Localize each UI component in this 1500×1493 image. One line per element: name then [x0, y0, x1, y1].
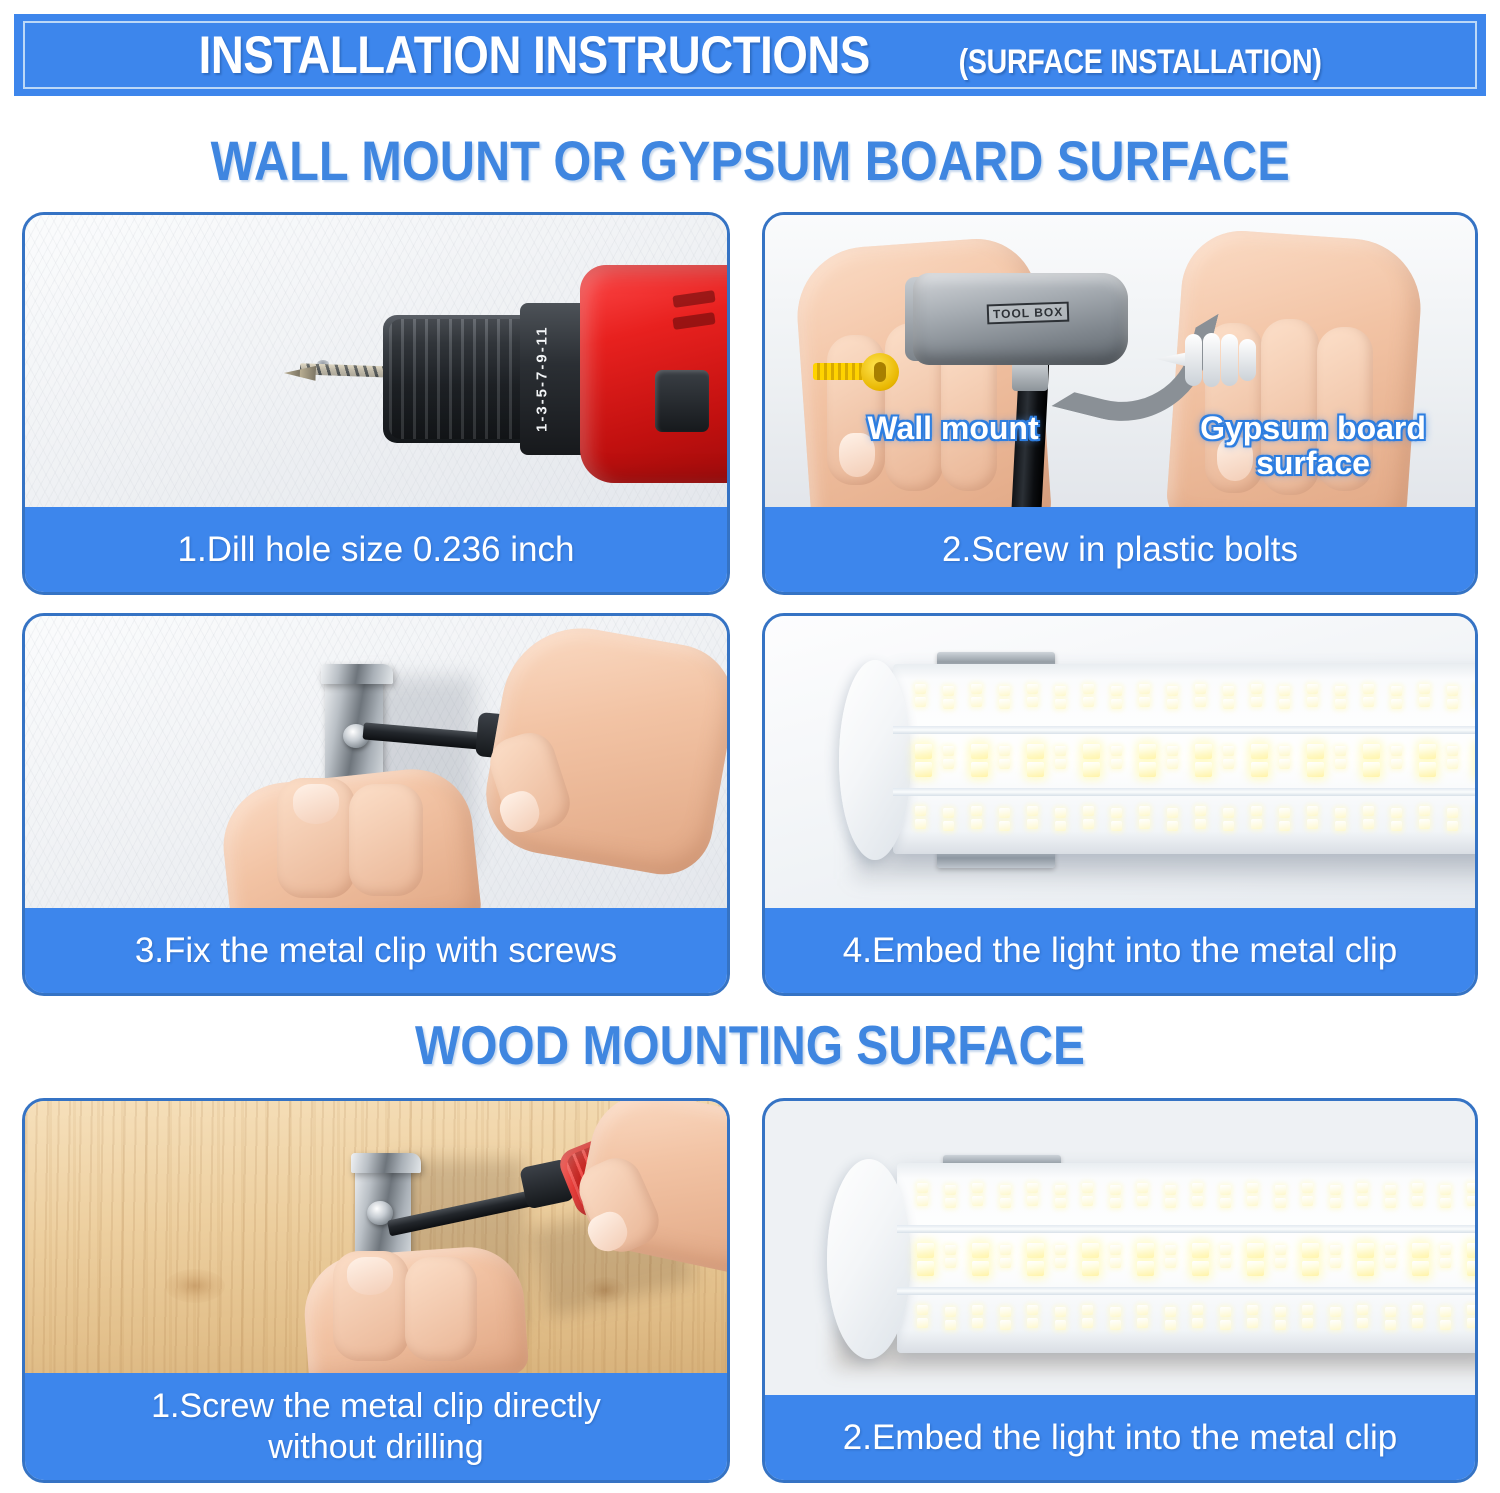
led-chip: [1137, 1318, 1148, 1328]
led-chip-pair: [915, 684, 926, 707]
led-chip-pair-small: [1385, 1307, 1396, 1330]
led-chip-pair-small: [1223, 686, 1234, 709]
led-chip: [1391, 699, 1402, 709]
led-chip: [1419, 684, 1430, 694]
led-chip-pair-small: [1110, 1307, 1121, 1330]
led-chip: [1111, 699, 1122, 709]
page-title: INSTALLATION INSTRUCTIONS: [198, 25, 869, 86]
led-chip-pair: [1192, 1243, 1209, 1276]
led-chip: [1419, 819, 1430, 829]
led-chip: [915, 819, 926, 829]
led-chip-pair-small: [1279, 686, 1290, 709]
led-chip-pair-small: [1330, 1307, 1341, 1330]
led-chip-pair-small: [1330, 1185, 1341, 1208]
led-chip: [943, 746, 954, 756]
led-chip: [1357, 1243, 1374, 1258]
led-chip: [1220, 1198, 1231, 1208]
led-chip-pair-small: [1223, 808, 1234, 831]
led-chip: [1251, 762, 1268, 777]
led-chip: [1247, 1183, 1258, 1193]
led-chip: [1055, 699, 1066, 709]
led-chip: [1167, 686, 1178, 696]
led-chip-pair: [1192, 1183, 1203, 1206]
yellow-wall-anchor-icon: [813, 353, 899, 389]
led-chip-pair-small: [1165, 1185, 1176, 1208]
led-chip: [1251, 684, 1262, 694]
led-chip: [1447, 746, 1458, 756]
led-chip: [1139, 684, 1150, 694]
led-chip: [1307, 697, 1318, 707]
led-chip: [1110, 1185, 1121, 1195]
led-chip-pair: [917, 1243, 934, 1276]
led-chip: [1055, 746, 1066, 756]
photo-fix-metal-clip: [25, 616, 727, 914]
led-chip: [1440, 1185, 1451, 1195]
led-chip-pair-small: [1335, 746, 1346, 769]
led-chip-pair-small: [1110, 1185, 1121, 1208]
anchor-fin: [1221, 334, 1238, 386]
photo-embed-light-white: [765, 616, 1475, 914]
led-chip-pair: [1412, 1183, 1423, 1206]
led-chip: [945, 1307, 956, 1317]
led-chip: [1279, 699, 1290, 709]
led-chip: [1357, 1183, 1368, 1193]
led-chip: [1139, 806, 1150, 816]
led-chip: [1302, 1318, 1313, 1328]
led-chip: [1391, 759, 1402, 769]
led-chip: [1275, 1198, 1286, 1208]
led-chip-pair-small: [1220, 1245, 1231, 1268]
led-chip: [1335, 746, 1346, 756]
led-chip: [971, 819, 982, 829]
led-chip: [1055, 1198, 1066, 1208]
led-chip-pair-small: [1220, 1185, 1231, 1208]
led-chip: [943, 686, 954, 696]
led-chip: [1447, 686, 1458, 696]
led-chip: [1192, 1243, 1209, 1258]
led-chip: [1302, 1261, 1319, 1276]
led-chip: [1302, 1305, 1313, 1315]
led-chip-pair-small: [1165, 1307, 1176, 1330]
led-chip-pair-small: [1111, 686, 1122, 709]
led-chip-pair: [1027, 684, 1038, 707]
led-chip: [1419, 762, 1436, 777]
led-chip: [1391, 821, 1402, 831]
led-rail-divider: [893, 788, 1475, 796]
led-chip: [1223, 746, 1234, 756]
fingernail: [293, 784, 339, 824]
step-panel-3: 3.Fix the metal clip with screws: [22, 613, 730, 996]
led-chip: [1391, 808, 1402, 818]
led-chip-pair: [1247, 1243, 1264, 1276]
led-chip-pair-small: [1440, 1307, 1451, 1330]
led-chip: [1363, 684, 1374, 694]
led-rail-divider: [897, 1225, 1475, 1233]
led-chip-pair: [1467, 1183, 1475, 1206]
step-caption-3: 3.Fix the metal clip with screws: [25, 908, 727, 993]
led-chip-pair-small: [1275, 1185, 1286, 1208]
led-chip: [1195, 744, 1212, 759]
led-chip: [971, 697, 982, 707]
led-chip: [1335, 821, 1346, 831]
led-chip-pair-small: [1335, 808, 1346, 831]
led-chip-pair-small: [1165, 1245, 1176, 1268]
led-chip-pair-small: [1000, 1245, 1011, 1268]
led-chip: [1440, 1320, 1451, 1330]
led-chip: [1307, 762, 1324, 777]
led-chip: [1083, 806, 1094, 816]
led-chip-pair: [1302, 1243, 1319, 1276]
led-chip-pair-small: [1385, 1245, 1396, 1268]
led-chip-pair: [1195, 684, 1206, 707]
led-chip: [1000, 1320, 1011, 1330]
section-heading-wood-mount: WOOD MOUNTING SURFACE: [0, 1013, 1500, 1077]
led-chip-pair: [1082, 1243, 1099, 1276]
led-chip: [915, 762, 932, 777]
led-chip: [943, 759, 954, 769]
anchor-head: [861, 353, 899, 391]
led-chip: [1192, 1305, 1203, 1315]
led-chip: [1467, 1261, 1475, 1276]
led-chip: [943, 821, 954, 831]
led-chip: [1275, 1258, 1286, 1268]
led-chip: [1251, 744, 1268, 759]
led-chip: [1137, 1305, 1148, 1315]
led-chip: [1412, 1305, 1423, 1315]
led-rail-divider: [897, 1287, 1475, 1295]
led-chip: [1220, 1258, 1231, 1268]
led-chip: [1447, 821, 1458, 831]
step-panel-4: 4.Embed the light into the metal clip: [762, 613, 1478, 996]
led-chip: [1247, 1318, 1258, 1328]
led-chip-pair-small: [1440, 1185, 1451, 1208]
led-chip: [1385, 1320, 1396, 1330]
led-chip: [1165, 1245, 1176, 1255]
led-chip: [972, 1243, 989, 1258]
led-chip: [1335, 759, 1346, 769]
led-chip: [1139, 744, 1156, 759]
led-chip: [1000, 1258, 1011, 1268]
led-chip: [1137, 1261, 1154, 1276]
led-chip-pair-small: [1167, 808, 1178, 831]
led-chip: [1307, 684, 1318, 694]
led-chip-pair: [917, 1305, 928, 1328]
led-chip: [1167, 821, 1178, 831]
led-chip: [1412, 1183, 1423, 1193]
led-chip: [1055, 808, 1066, 818]
led-chip: [1167, 759, 1178, 769]
led-chip: [1165, 1185, 1176, 1195]
led-chip: [945, 1320, 956, 1330]
led-chip: [1083, 762, 1100, 777]
led-chip-pair-small: [999, 808, 1010, 831]
led-chip: [1385, 1185, 1396, 1195]
led-chip: [1251, 806, 1262, 816]
led-chip: [1139, 819, 1150, 829]
led-chip: [1082, 1243, 1099, 1258]
led-chip: [1083, 819, 1094, 829]
led-chip: [1167, 808, 1178, 818]
led-chip: [1391, 686, 1402, 696]
led-chip: [972, 1305, 983, 1315]
led-chip-pair: [971, 744, 988, 777]
led-chip: [1195, 819, 1206, 829]
led-chip: [915, 744, 932, 759]
led-chip: [943, 808, 954, 818]
led-chip: [1220, 1185, 1231, 1195]
anchor-tip: [1155, 352, 1189, 367]
drill-bit-icon: [300, 363, 395, 377]
installation-instructions-infographic: INSTALLATION INSTRUCTIONS (SURFACE INSTA…: [0, 0, 1500, 1493]
led-chip: [1440, 1258, 1451, 1268]
led-chip-pair: [1302, 1183, 1313, 1206]
led-chip: [917, 1261, 934, 1276]
led-chip: [1027, 819, 1038, 829]
led-chip-pair: [1195, 806, 1206, 829]
led-chip: [1302, 1196, 1313, 1206]
led-chip: [971, 806, 982, 816]
led-chip-pair: [1357, 1305, 1368, 1328]
led-chip: [1275, 1245, 1286, 1255]
led-chip: [1027, 1318, 1038, 1328]
led-chip-pair: [1467, 1305, 1475, 1328]
photo-drill-hole: 1-3-5-7-9-11: [25, 215, 727, 513]
led-chip: [1363, 806, 1374, 816]
led-chip: [1385, 1245, 1396, 1255]
led-chip: [1110, 1198, 1121, 1208]
led-chip-pair-small: [1391, 746, 1402, 769]
led-chip: [972, 1318, 983, 1328]
led-chip: [945, 1198, 956, 1208]
step-caption-4: 4.Embed the light into the metal clip: [765, 908, 1475, 993]
led-chip: [1357, 1305, 1368, 1315]
led-chip: [1195, 806, 1206, 816]
led-chip: [1330, 1245, 1341, 1255]
step-caption-2: 2.Screw in plastic bolts: [765, 507, 1475, 592]
led-chip-pair: [1357, 1183, 1368, 1206]
led-chip: [1279, 759, 1290, 769]
led-chip: [1247, 1243, 1264, 1258]
led-chip: [1385, 1258, 1396, 1268]
led-chip: [1357, 1261, 1374, 1276]
led-chip: [1357, 1318, 1368, 1328]
led-chip-pair-small: [1447, 686, 1458, 709]
led-chip-pair-small: [999, 686, 1010, 709]
overlay-label-gypsum-board-surface: Gypsum board surface: [1183, 411, 1443, 481]
led-chip: [917, 1318, 928, 1328]
led-chip: [1330, 1258, 1341, 1268]
led-chip: [1440, 1198, 1451, 1208]
led-chip: [1192, 1196, 1203, 1206]
led-chip: [1111, 808, 1122, 818]
hammer-brand-label: TOOL BOX: [987, 302, 1070, 325]
led-chip: [1192, 1183, 1203, 1193]
page-subtitle: (SURFACE INSTALLATION): [959, 43, 1322, 82]
led-chip-pair: [1195, 744, 1212, 777]
led-chip-pair: [1419, 744, 1436, 777]
led-chip: [1467, 1243, 1475, 1258]
wood-knot: [165, 1269, 225, 1303]
led-chip-pair: [1192, 1305, 1203, 1328]
led-chip: [1082, 1196, 1093, 1206]
led-chip-pair-small: [1279, 808, 1290, 831]
led-chip: [1275, 1307, 1286, 1317]
led-chip-pair: [1027, 744, 1044, 777]
led-chip: [972, 1261, 989, 1276]
led-chip: [1000, 1198, 1011, 1208]
step-panel-1: 1-3-5-7-9-11 1.Dill hole size 0.236 inch: [22, 212, 730, 595]
step-caption-5: 1.Screw the metal clip directly without …: [25, 1373, 727, 1480]
led-chip: [1279, 808, 1290, 818]
led-chip: [999, 686, 1010, 696]
led-chip: [999, 699, 1010, 709]
led-chip: [1220, 1307, 1231, 1317]
led-chip: [943, 699, 954, 709]
metal-clip-tab-icon: [321, 664, 393, 684]
led-chip-pair-small: [1055, 1185, 1066, 1208]
led-chip: [971, 684, 982, 694]
led-chip: [1251, 697, 1262, 707]
led-chip-pair: [1251, 806, 1262, 829]
led-chip: [971, 744, 988, 759]
led-chip-pair-small: [1275, 1245, 1286, 1268]
led-chip-pair: [1307, 744, 1324, 777]
led-chip: [945, 1258, 956, 1268]
led-chip-pair-small: [943, 746, 954, 769]
led-chip: [1330, 1198, 1341, 1208]
led-chip: [1195, 762, 1212, 777]
led-chip: [1330, 1320, 1341, 1330]
led-chip-pair-small: [1391, 686, 1402, 709]
led-chip-pair-small: [1391, 808, 1402, 831]
drill-switch-icon: [655, 370, 709, 432]
led-chip: [1385, 1307, 1396, 1317]
led-chip-pair-small: [1055, 1245, 1066, 1268]
led-chip-pair: [1137, 1183, 1148, 1206]
led-chip: [1027, 1196, 1038, 1206]
white-gypsum-anchor-icon: [1155, 333, 1255, 387]
led-chip-pair: [1027, 1183, 1038, 1206]
led-chip-pair: [917, 1183, 928, 1206]
led-chip: [1027, 697, 1038, 707]
led-chip: [1440, 1307, 1451, 1317]
led-chip-pair-small: [1335, 686, 1346, 709]
led-chip: [1000, 1245, 1011, 1255]
led-chip: [917, 1183, 928, 1193]
metal-clip-tab-icon: [351, 1153, 421, 1173]
led-chip: [1363, 697, 1374, 707]
led-chip-pair: [1307, 684, 1318, 707]
led-chip: [1139, 762, 1156, 777]
led-chip: [1385, 1198, 1396, 1208]
led-chip: [1357, 1196, 1368, 1206]
anchor-fin: [1203, 333, 1220, 387]
led-chip: [1223, 759, 1234, 769]
led-chip: [1279, 746, 1290, 756]
led-chip: [1055, 821, 1066, 831]
led-chip: [1000, 1185, 1011, 1195]
led-chip-pair: [1467, 1243, 1475, 1276]
led-chip: [1335, 686, 1346, 696]
led-chip-pair: [1027, 1243, 1044, 1276]
led-chip: [1165, 1307, 1176, 1317]
led-chip: [1247, 1305, 1258, 1315]
led-chip: [1000, 1307, 1011, 1317]
led-chip: [917, 1305, 928, 1315]
led-chip-pair-small: [1440, 1245, 1451, 1268]
led-chip: [1083, 697, 1094, 707]
led-chip: [1083, 684, 1094, 694]
header-banner: INSTALLATION INSTRUCTIONS (SURFACE INSTA…: [14, 14, 1486, 96]
led-chip-pair-small: [945, 1307, 956, 1330]
photo-plastic-bolts: TOOL BOX Wall mount Gypsum board surface: [765, 215, 1475, 513]
led-chip-pair-small: [1275, 1307, 1286, 1330]
led-chip: [1167, 746, 1178, 756]
led-end-cap-icon: [839, 660, 911, 860]
led-rail-divider: [893, 726, 1475, 734]
led-chip-pair: [1363, 806, 1374, 829]
led-chip: [1412, 1243, 1429, 1258]
led-chip: [1447, 759, 1458, 769]
led-chip-pair-small: [1167, 746, 1178, 769]
led-chip: [999, 821, 1010, 831]
led-chip: [1192, 1261, 1209, 1276]
led-chip: [1055, 1307, 1066, 1317]
led-chip-pair-small: [1447, 746, 1458, 769]
led-chip: [1027, 744, 1044, 759]
led-chip: [972, 1196, 983, 1206]
led-chip-pair: [1083, 806, 1094, 829]
led-chip: [1447, 699, 1458, 709]
led-chip: [1192, 1318, 1203, 1328]
led-chip: [945, 1185, 956, 1195]
finger: [405, 1257, 477, 1361]
led-chip-pair: [1251, 684, 1262, 707]
drill-torque-scale-label: 1-3-5-7-9-11: [527, 307, 557, 451]
led-chip: [1279, 686, 1290, 696]
led-chip: [1363, 762, 1380, 777]
led-chip: [1111, 759, 1122, 769]
led-chip-pair-small: [1000, 1185, 1011, 1208]
led-chip-pair: [1082, 1183, 1093, 1206]
led-chip: [1027, 1305, 1038, 1315]
led-chip-pair: [1139, 684, 1150, 707]
anchor-fin: [1239, 339, 1256, 381]
led-chip: [1467, 1305, 1475, 1315]
led-chip: [1223, 699, 1234, 709]
led-chip-pair-small: [1055, 746, 1066, 769]
led-chip-pair: [1137, 1305, 1148, 1328]
anchor-fin: [1185, 334, 1202, 386]
led-chip-pair-small: [1111, 808, 1122, 831]
led-chip: [1307, 819, 1318, 829]
led-chip-pair: [972, 1243, 989, 1276]
led-chip-pair-small: [943, 808, 954, 831]
led-chip-pair-small: [945, 1185, 956, 1208]
led-chip: [1335, 808, 1346, 818]
led-chip: [1110, 1258, 1121, 1268]
led-chip: [1082, 1305, 1093, 1315]
led-chip: [1055, 759, 1066, 769]
led-chip: [1055, 686, 1066, 696]
led-chip-pair-small: [943, 686, 954, 709]
led-chip-pair: [971, 684, 982, 707]
led-chip: [1247, 1196, 1258, 1206]
led-chip: [1223, 686, 1234, 696]
led-chip: [1330, 1185, 1341, 1195]
led-chip-pair: [1082, 1305, 1093, 1328]
led-chip: [1302, 1243, 1319, 1258]
